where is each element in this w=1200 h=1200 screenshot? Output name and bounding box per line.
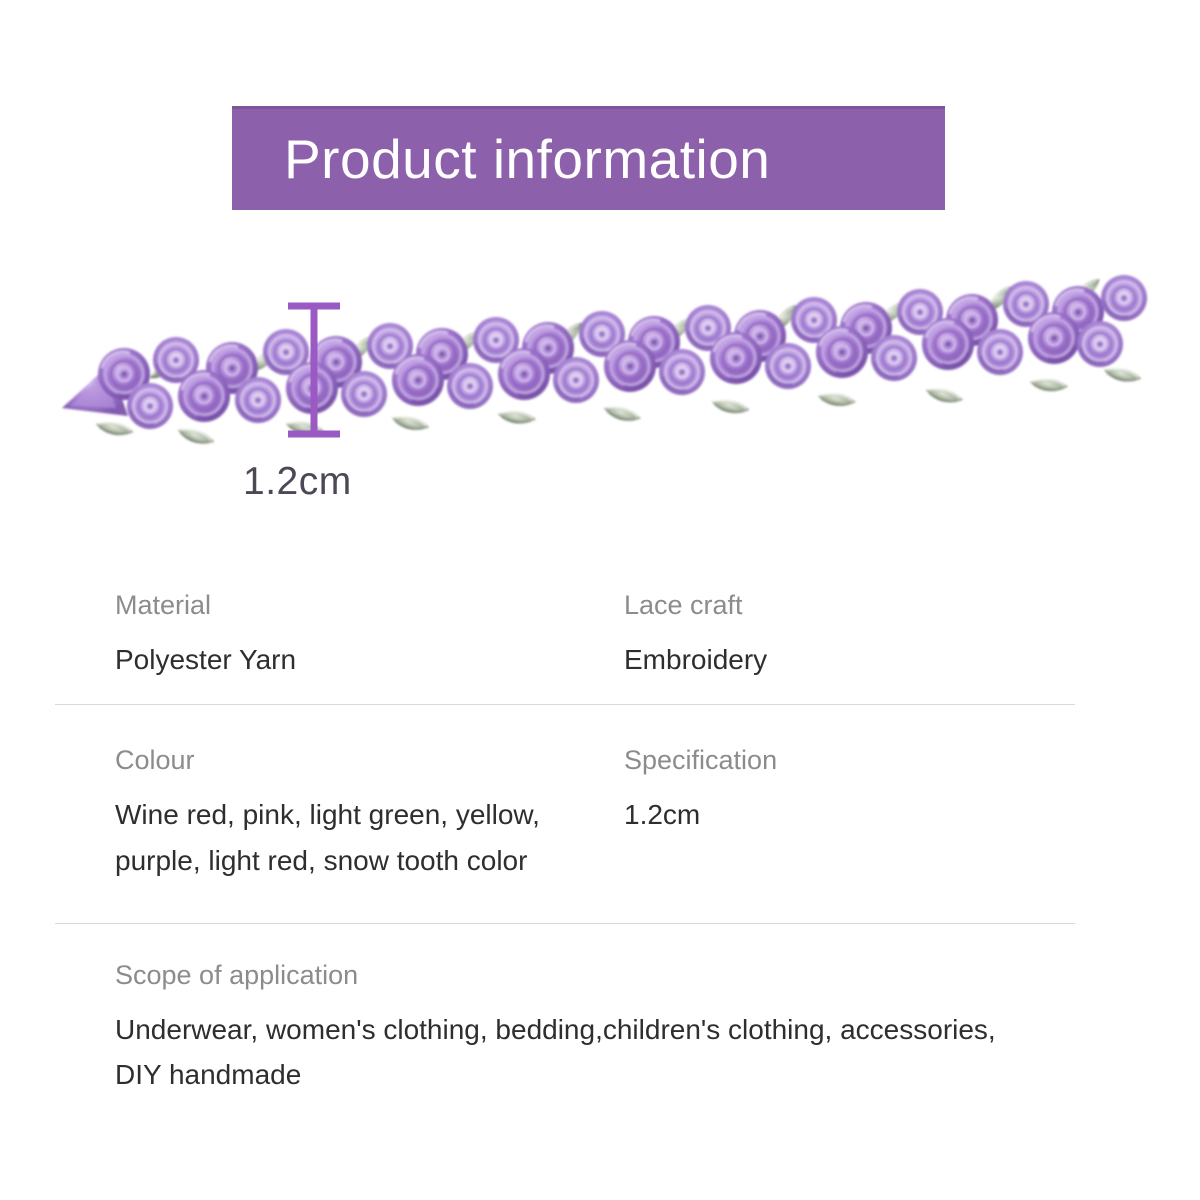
product-spec-table: Material Polyester Yarn Lace craft Embro… <box>55 580 1075 1098</box>
spec-cell-colour: Colour Wine red, pink, light green, yell… <box>55 747 620 883</box>
spec-label-colour: Colour <box>115 747 620 774</box>
spec-label-material: Material <box>115 592 620 619</box>
spec-value-colour: Wine red, pink, light green, yellow, pur… <box>115 792 620 883</box>
spec-row-scope: Scope of application Underwear, women's … <box>55 924 1075 1098</box>
spec-label-specification: Specification <box>624 747 1075 774</box>
spec-value-material: Polyester Yarn <box>115 637 620 682</box>
spec-value-scope: Underwear, women's clothing, bedding,chi… <box>115 1007 1035 1098</box>
page-title: Product information <box>232 132 770 187</box>
spec-cell-lace-craft: Lace craft Embroidery <box>620 592 1075 682</box>
spec-row-colour: Colour Wine red, pink, light green, yell… <box>55 705 1075 923</box>
product-information-banner: Product information <box>232 106 945 210</box>
lace-trim-illustration <box>0 248 1200 458</box>
spec-cell-material: Material Polyester Yarn <box>55 592 620 682</box>
spec-value-specification: 1.2cm <box>624 792 1075 837</box>
spec-label-lace-craft: Lace craft <box>624 592 1075 619</box>
measurement-label: 1.2cm <box>243 462 352 501</box>
spec-label-scope: Scope of application <box>115 962 1075 989</box>
spec-row-material: Material Polyester Yarn Lace craft Embro… <box>55 580 1075 704</box>
spec-cell-specification: Specification 1.2cm <box>620 747 1075 883</box>
spec-value-lace-craft: Embroidery <box>624 637 1075 682</box>
product-image <box>0 248 1200 458</box>
spec-cell-scope: Scope of application Underwear, women's … <box>55 962 1075 1098</box>
